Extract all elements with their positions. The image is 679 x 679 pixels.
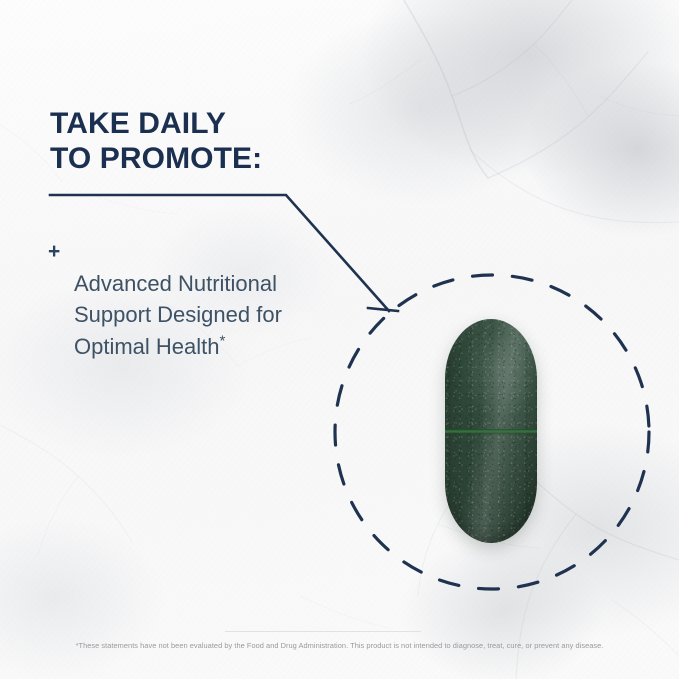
footnote-asterisk: * <box>220 332 226 349</box>
benefit-text-body: Advanced Nutritional Support Designed fo… <box>74 271 282 358</box>
benefit-list-item: + Advanced Nutritional Support Designed … <box>48 237 338 362</box>
product-highlight-circle <box>332 272 652 592</box>
product-benefit-card: TAKE DAILY TO PROMOTE: + Advanced Nutrit… <box>0 0 679 679</box>
footer-divider <box>225 631 421 632</box>
tablet-score-line <box>445 429 537 434</box>
page-title: TAKE DAILY TO PROMOTE: <box>50 106 262 177</box>
plus-icon: + <box>48 237 74 267</box>
product-tablet <box>445 319 537 543</box>
fda-disclaimer: *These statements have not been evaluate… <box>0 641 679 650</box>
benefit-text: Advanced Nutritional Support Designed fo… <box>74 237 338 362</box>
